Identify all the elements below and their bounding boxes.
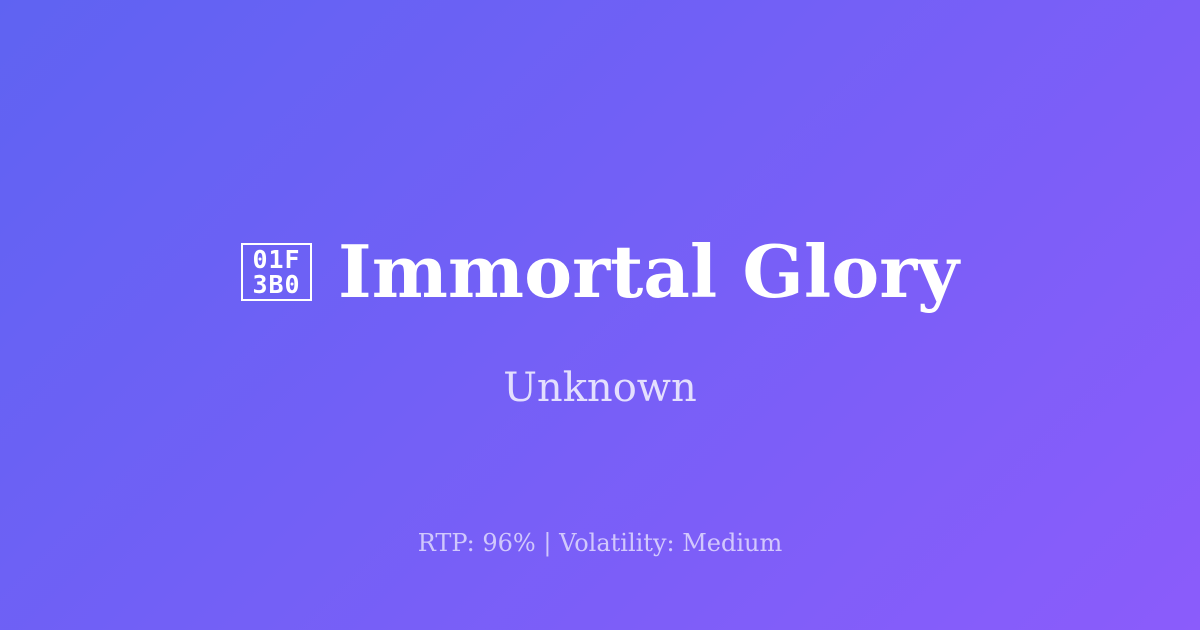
tofu-codepoint-low: 3B0 xyxy=(252,272,300,297)
game-preview-card: 01F 3B0 Immortal Glory Unknown RTP: 96% … xyxy=(0,0,1200,630)
game-provider-subtitle: Unknown xyxy=(0,364,1200,412)
game-stats-line: RTP: 96% | Volatility: Medium xyxy=(0,528,1200,558)
title-row: 01F 3B0 Immortal Glory xyxy=(0,230,1200,314)
game-title: Immortal Glory xyxy=(338,232,959,312)
tofu-codepoint-high: 01F xyxy=(252,247,300,272)
slot-machine-icon: 01F 3B0 xyxy=(241,243,312,301)
